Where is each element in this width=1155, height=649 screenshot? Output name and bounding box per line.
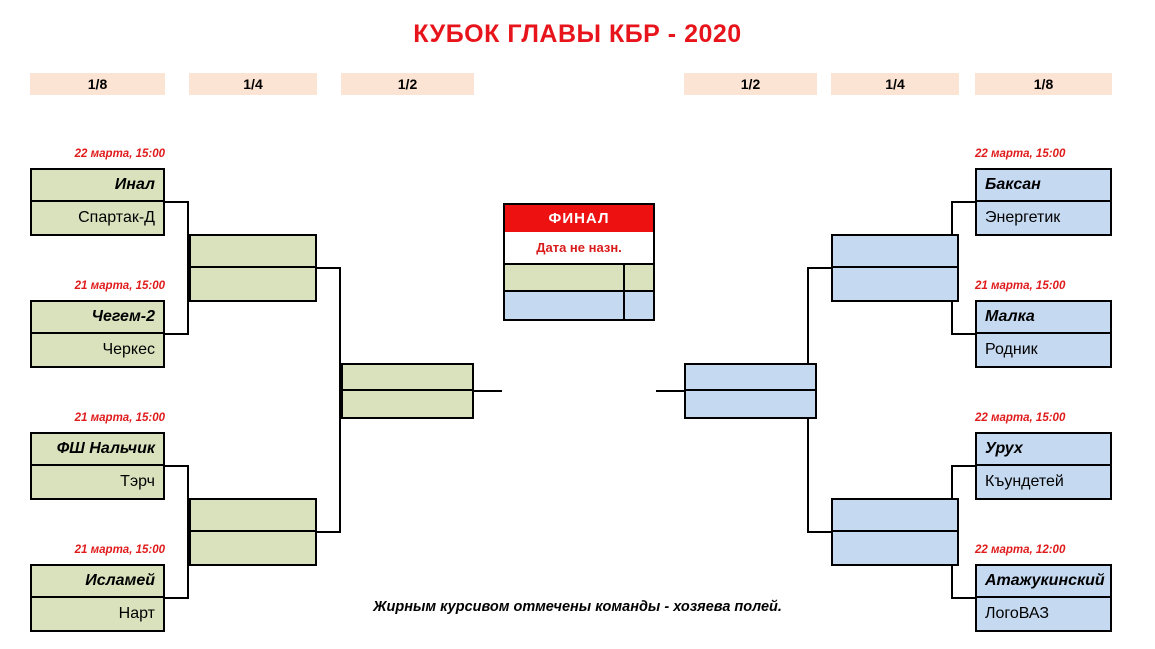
team-name-away: Родник (977, 334, 1110, 366)
connector-line (951, 333, 975, 335)
round-header-left-1-4: 1/4 (189, 73, 317, 95)
match-right-2[interactable]: Малка Родник (975, 300, 1112, 368)
team-name-home (191, 500, 315, 532)
match-right-4[interactable]: Атажукинский ЛогоВАЗ (975, 564, 1112, 632)
final-team-top (505, 265, 625, 290)
team-name-away (686, 391, 815, 417)
match-date-left-4: 21 марта, 15:00 (30, 544, 165, 556)
connector-line (165, 201, 189, 203)
team-name-home (191, 236, 315, 268)
quarter-final-left-1[interactable] (189, 234, 317, 302)
bracket-canvas: КУБОК ГЛАВЫ КБР - 2020 1/8 1/4 1/2 1/2 1… (0, 0, 1155, 649)
match-date-right-3: 22 марта, 15:00 (975, 412, 1112, 424)
final-score-bottom (625, 292, 653, 319)
page-title: КУБОК ГЛАВЫ КБР - 2020 (0, 20, 1155, 49)
team-name-away (191, 268, 315, 300)
match-date-left-2: 21 марта, 15:00 (30, 280, 165, 292)
connector-line (317, 531, 341, 533)
final-match-box[interactable]: ФИНАЛ Дата не назн. (503, 203, 655, 321)
team-name-home: Атажукинский (977, 566, 1110, 598)
quarter-final-right-2[interactable] (831, 498, 959, 566)
team-name-home: Исламей (32, 566, 163, 598)
final-row-bottom (505, 292, 653, 319)
final-row-top (505, 265, 653, 292)
team-name-home: Чегем-2 (32, 302, 163, 334)
team-name-home: Урух (977, 434, 1110, 466)
connector-line (951, 465, 975, 467)
round-header-right-1-4: 1/4 (831, 73, 959, 95)
semi-final-left[interactable] (341, 363, 474, 419)
round-header-right-1-2: 1/2 (684, 73, 817, 95)
team-name-away: Черкес (32, 334, 163, 366)
connector-line (807, 267, 831, 269)
team-name-away (833, 532, 957, 564)
match-date-right-4: 22 марта, 12:00 (975, 544, 1112, 556)
match-date-right-1: 22 марта, 15:00 (975, 148, 1112, 160)
team-name-away: Тэрч (32, 466, 163, 498)
connector-line (317, 267, 341, 269)
team-name-home (833, 500, 957, 532)
match-date-left-1: 22 марта, 15:00 (30, 148, 165, 160)
quarter-final-right-1[interactable] (831, 234, 959, 302)
final-team-bottom (505, 292, 625, 319)
team-name-away: Къундетей (977, 466, 1110, 498)
quarter-final-left-2[interactable] (189, 498, 317, 566)
match-date-left-3: 21 марта, 15:00 (30, 412, 165, 424)
team-name-home: Баксан (977, 170, 1110, 202)
match-right-3[interactable]: Урух Къундетей (975, 432, 1112, 500)
team-name-away (343, 391, 472, 417)
team-name-home: Инал (32, 170, 163, 202)
final-date: Дата не назн. (505, 232, 653, 265)
match-left-3[interactable]: ФШ Нальчик Тэрч (30, 432, 165, 500)
round-header-right-1-8: 1/8 (975, 73, 1112, 95)
team-name-home: Малка (977, 302, 1110, 334)
round-header-left-1-8: 1/8 (30, 73, 165, 95)
connector-line (474, 390, 502, 392)
team-name-away: Энергетик (977, 202, 1110, 234)
team-name-home (343, 365, 472, 391)
team-name-home (833, 236, 957, 268)
final-heading: ФИНАЛ (505, 205, 653, 232)
match-left-4[interactable]: Исламей Нарт (30, 564, 165, 632)
connector-line (807, 531, 831, 533)
final-score-top (625, 265, 653, 290)
team-name-away (191, 532, 315, 564)
connector-line (656, 390, 684, 392)
team-name-away (833, 268, 957, 300)
team-name-home (686, 365, 815, 391)
round-header-left-1-2: 1/2 (341, 73, 474, 95)
semi-final-right[interactable] (684, 363, 817, 419)
connector-line (165, 333, 189, 335)
match-date-right-2: 21 марта, 15:00 (975, 280, 1112, 292)
footnote-legend: Жирным курсивом отмечены команды - хозяе… (0, 599, 1155, 615)
match-right-1[interactable]: Баксан Энергетик (975, 168, 1112, 236)
connector-line (951, 201, 975, 203)
team-name-home: ФШ Нальчик (32, 434, 163, 466)
connector-line (165, 465, 189, 467)
match-left-1[interactable]: Инал Спартак-Д (30, 168, 165, 236)
match-left-2[interactable]: Чегем-2 Черкес (30, 300, 165, 368)
team-name-away: Спартак-Д (32, 202, 163, 234)
